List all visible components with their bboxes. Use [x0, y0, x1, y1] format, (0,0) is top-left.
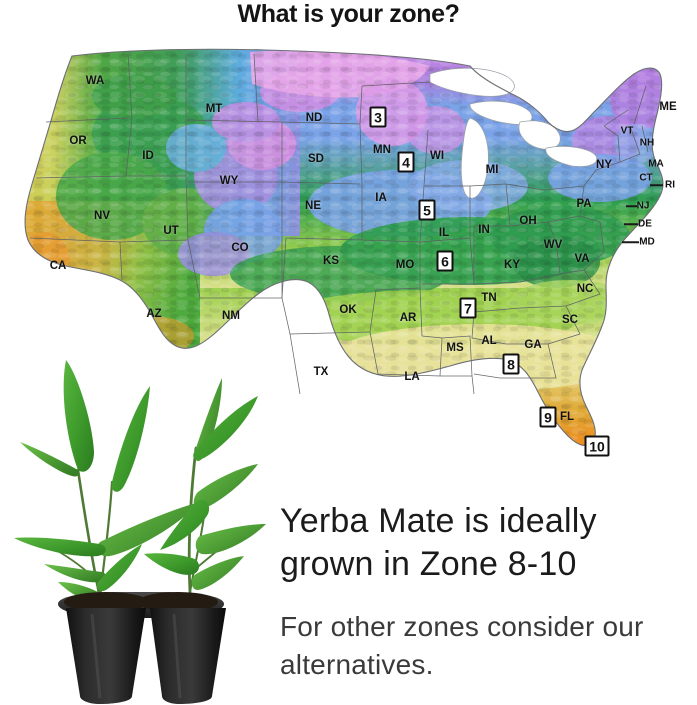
- pot-left: [66, 608, 146, 704]
- leader-line-nj: [626, 205, 637, 207]
- zone-badge-4[interactable]: 4: [398, 152, 415, 173]
- zone-badge-8[interactable]: 8: [503, 354, 520, 375]
- zone-badge-10[interactable]: 10: [585, 436, 610, 457]
- zone-badge-9[interactable]: 9: [540, 407, 557, 428]
- sub-copy: For other zones consider our alternative…: [280, 608, 692, 684]
- yerba-mate-plant-photo: [0, 330, 280, 705]
- leader-line-md: [622, 241, 639, 243]
- zone-infographic: What is your zone?: [0, 0, 697, 705]
- zone-badge-3[interactable]: 3: [370, 107, 387, 128]
- leaves-right-plant: [144, 378, 266, 590]
- zone-badge-6[interactable]: 6: [437, 251, 454, 272]
- zone-badge-7[interactable]: 7: [460, 298, 477, 319]
- zone-badge-5[interactable]: 5: [419, 200, 436, 221]
- page-title: What is your zone?: [0, 0, 697, 28]
- leader-line-ri: [650, 184, 663, 186]
- leader-line-de: [624, 223, 638, 225]
- pot-right: [150, 608, 226, 704]
- plant-illustration: [0, 330, 280, 705]
- main-copy: Yerba Mate is ideally grown in Zone 8-10: [280, 500, 680, 586]
